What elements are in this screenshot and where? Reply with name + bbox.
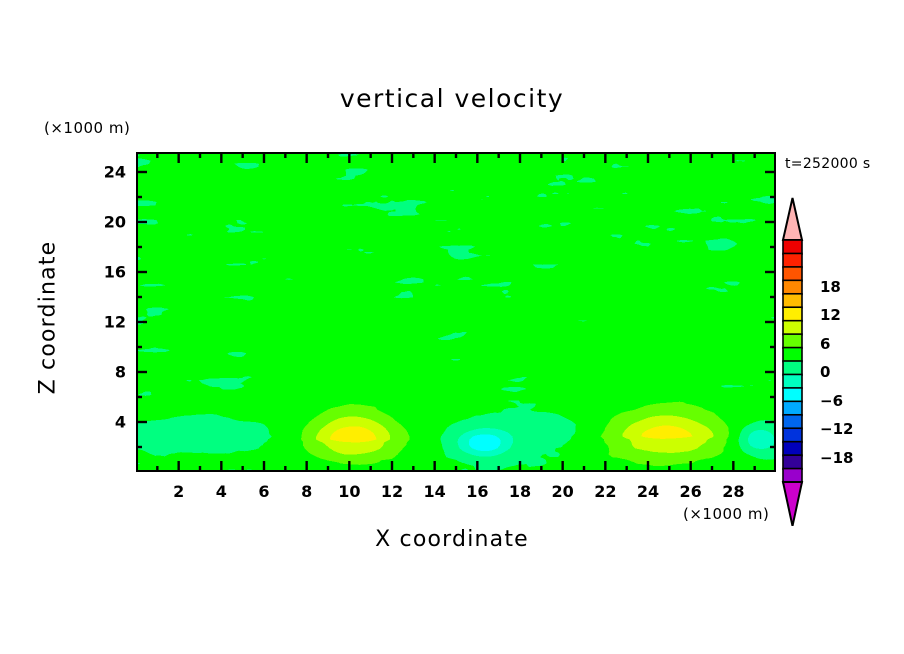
colorbar-band xyxy=(783,334,802,348)
colorbar-band xyxy=(783,361,802,375)
colorbar-tick-label: 6 xyxy=(820,335,830,353)
x-tick-label: 2 xyxy=(173,482,184,501)
contour-plot xyxy=(136,152,776,472)
contour-bands xyxy=(136,152,776,472)
colorbar-band xyxy=(783,428,802,442)
time-annotation: t=252000 s xyxy=(785,156,870,172)
x-tick-label: 16 xyxy=(466,482,488,501)
y-axis-title: Z coordinate xyxy=(36,208,61,428)
x-tick-label: 22 xyxy=(594,482,616,501)
colorbar-band xyxy=(783,240,802,254)
colorbar-band xyxy=(783,321,802,335)
x-tick-label: 18 xyxy=(509,482,531,501)
x-tick-label: 28 xyxy=(722,482,744,501)
colorbar-band xyxy=(783,307,802,321)
x-tick-label: 8 xyxy=(301,482,312,501)
x-tick-label: 14 xyxy=(424,482,446,501)
x-tick-label: 20 xyxy=(552,482,574,501)
colorbar-band xyxy=(783,374,802,388)
x-tick-label: 4 xyxy=(216,482,227,501)
colorbar-tick-label: 18 xyxy=(820,278,841,296)
x-tick-label: 24 xyxy=(637,482,659,501)
colorbar-band xyxy=(783,401,802,415)
x-axis-title: X coordinate xyxy=(0,527,904,552)
colorbar-cap-bottom xyxy=(783,482,802,526)
y-tick-label: 24 xyxy=(88,163,126,182)
x-tick-label: 12 xyxy=(381,482,403,501)
chart-title: vertical velocity xyxy=(0,84,904,113)
colorbar-band xyxy=(783,348,802,362)
colorbar-band xyxy=(783,267,802,281)
y-tick-label: 8 xyxy=(88,363,126,382)
colorbar-band xyxy=(783,294,802,308)
colorbar-band xyxy=(783,442,802,456)
y-tick-label: 4 xyxy=(88,413,126,432)
x-axis-unit-label: (×1000 m) xyxy=(683,505,769,523)
x-tick-label: 26 xyxy=(680,482,702,501)
y-axis-unit-label: (×1000 m) xyxy=(44,119,130,137)
x-tick-label: 6 xyxy=(258,482,269,501)
colorbar-band xyxy=(783,280,802,294)
colorbar-band xyxy=(783,455,802,469)
colorbar-band xyxy=(783,469,802,483)
colorbar-band xyxy=(783,388,802,402)
colorbar-band xyxy=(783,415,802,429)
colorbar-cap-top xyxy=(783,198,802,240)
colorbar-tick-label: 0 xyxy=(820,363,830,381)
y-tick-label: 12 xyxy=(88,313,126,332)
colorbar xyxy=(780,196,824,526)
y-tick-label: 16 xyxy=(88,263,126,282)
colorbar-band xyxy=(783,253,802,267)
x-tick-label: 10 xyxy=(338,482,360,501)
colorbar-tick-label: −12 xyxy=(820,420,853,438)
y-tick-label: 20 xyxy=(88,213,126,232)
colorbar-tick-label: 12 xyxy=(820,306,841,324)
colorbar-tick-label: −18 xyxy=(820,449,853,467)
colorbar-tick-label: −6 xyxy=(820,392,843,410)
